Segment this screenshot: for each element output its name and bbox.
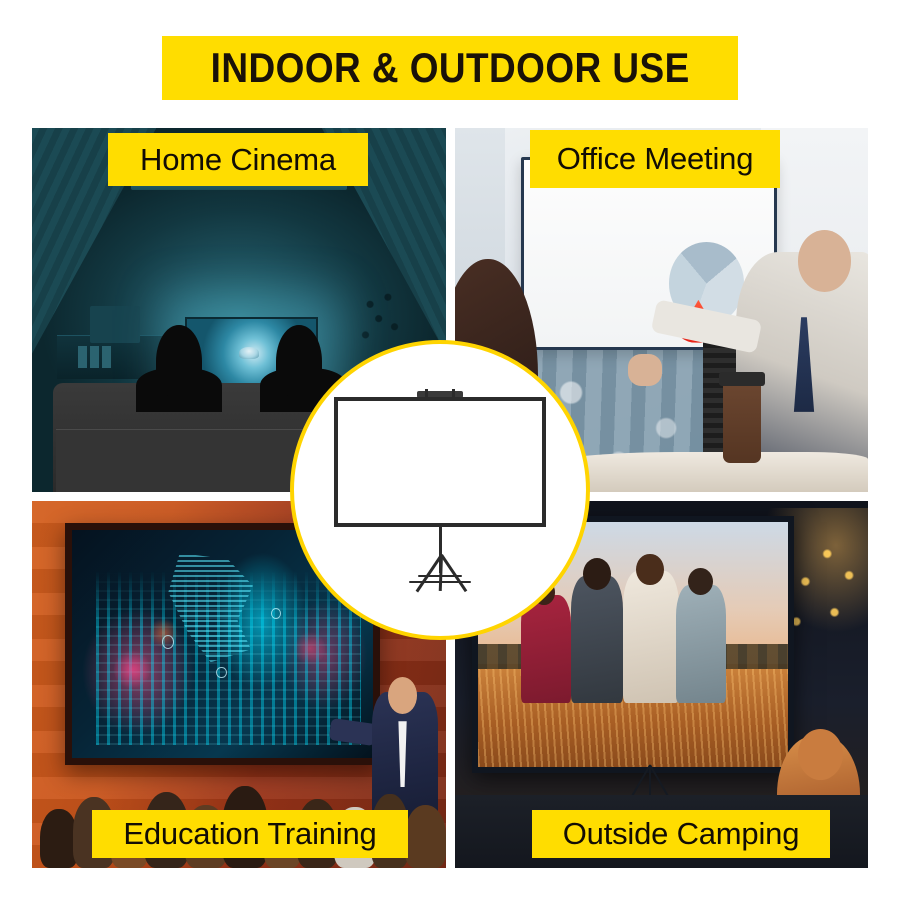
- caption-home-cinema: Home Cinema: [108, 133, 368, 186]
- tripod-cross-brace: [409, 581, 471, 583]
- tripod-cross-brace: [418, 575, 462, 577]
- friend-silhouette: [623, 571, 679, 703]
- shelf-book: [90, 346, 99, 368]
- data-glow: [114, 649, 150, 690]
- viewer-silhouette: [156, 325, 202, 398]
- sofa-cushion: [56, 429, 202, 492]
- caption-outside-camping: Outside Camping: [532, 810, 830, 858]
- tripod-leg: [439, 555, 443, 591]
- pointing-hand: [628, 354, 661, 387]
- product-badge-circle: [290, 340, 590, 640]
- caption-outside-camping-label: Outside Camping: [563, 816, 800, 852]
- poster-canvas: INDOOR & OUTDOOR USE: [0, 0, 900, 900]
- coffee-cup-lid: [719, 372, 764, 387]
- data-node-ring: [271, 608, 282, 619]
- caption-education-training: Education Training: [92, 810, 408, 858]
- audience-head: [405, 805, 446, 868]
- friend-silhouette: [676, 585, 726, 703]
- data-glow: [295, 630, 325, 667]
- page-title: INDOOR & OUTDOOR USE: [210, 44, 689, 92]
- friend-head: [583, 558, 611, 590]
- coffee-cup: [723, 383, 760, 463]
- shelf-box: [90, 306, 140, 342]
- shelf-book: [102, 346, 111, 368]
- friend-head: [636, 554, 664, 586]
- viewer-silhouette: [276, 325, 322, 398]
- child-head: [798, 729, 843, 780]
- caption-education-training-label: Education Training: [123, 816, 376, 852]
- caption-home-cinema-label: Home Cinema: [140, 142, 336, 178]
- tripod-projector-screen-icon: [334, 385, 546, 595]
- page-title-banner: INDOOR & OUTDOOR USE: [162, 36, 738, 100]
- friend-silhouette: [571, 576, 624, 703]
- audience-head: [40, 809, 77, 868]
- friend-silhouette: [521, 595, 571, 703]
- caption-office-meeting: Office Meeting: [530, 130, 780, 188]
- movie-character: [239, 347, 260, 359]
- attendee-head: [798, 230, 852, 292]
- tripod-leg: [440, 554, 467, 592]
- screen-surface: [334, 397, 546, 527]
- data-node-ring: [162, 635, 174, 649]
- presenter-head: [388, 677, 417, 714]
- caption-office-meeting-label: Office Meeting: [557, 141, 754, 177]
- shelf-book: [78, 346, 87, 368]
